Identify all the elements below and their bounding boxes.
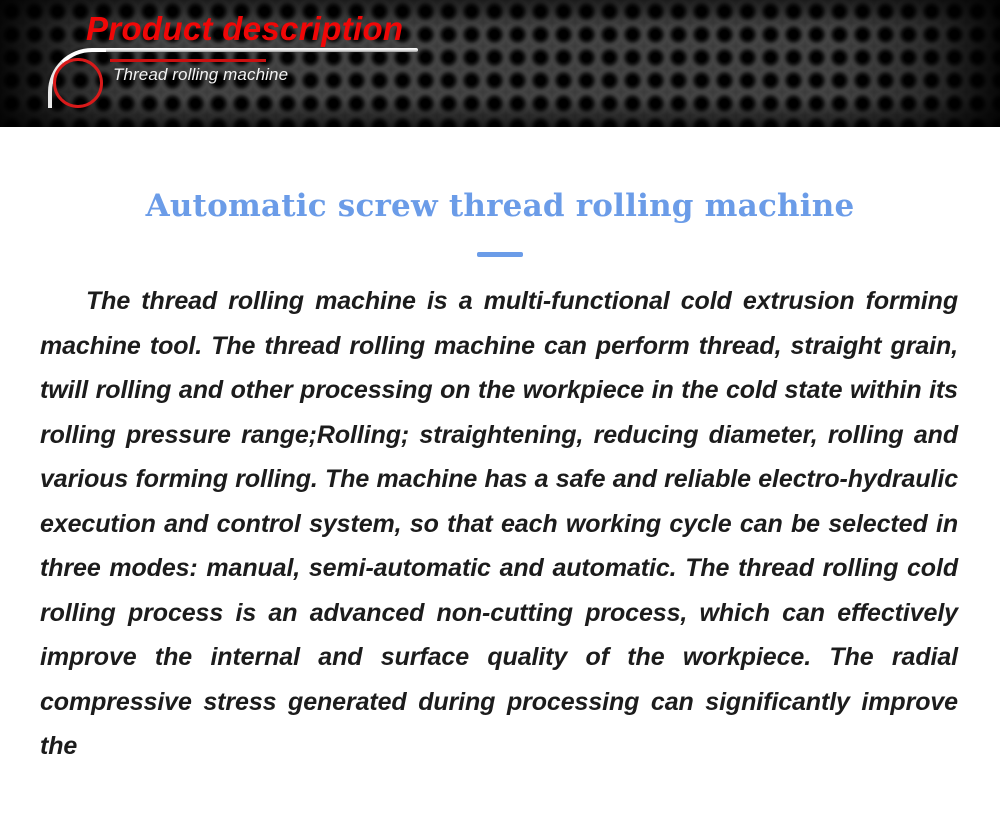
page-title: Automatic screw thread rolling machine <box>0 127 1000 223</box>
product-description-content: Automatic screw thread rolling machine T… <box>0 127 1000 769</box>
white-horizontal-rule-icon <box>100 48 418 52</box>
banner-subtitle: Thread rolling machine <box>113 65 288 85</box>
banner-title: Product description <box>86 11 403 48</box>
description-paragraph: The thread rolling machine is a multi-fu… <box>0 257 1000 769</box>
product-description-banner: Product description Thread rolling machi… <box>0 0 1000 127</box>
red-horizontal-rule-icon <box>110 59 266 62</box>
red-circle-outline-icon <box>53 58 103 108</box>
